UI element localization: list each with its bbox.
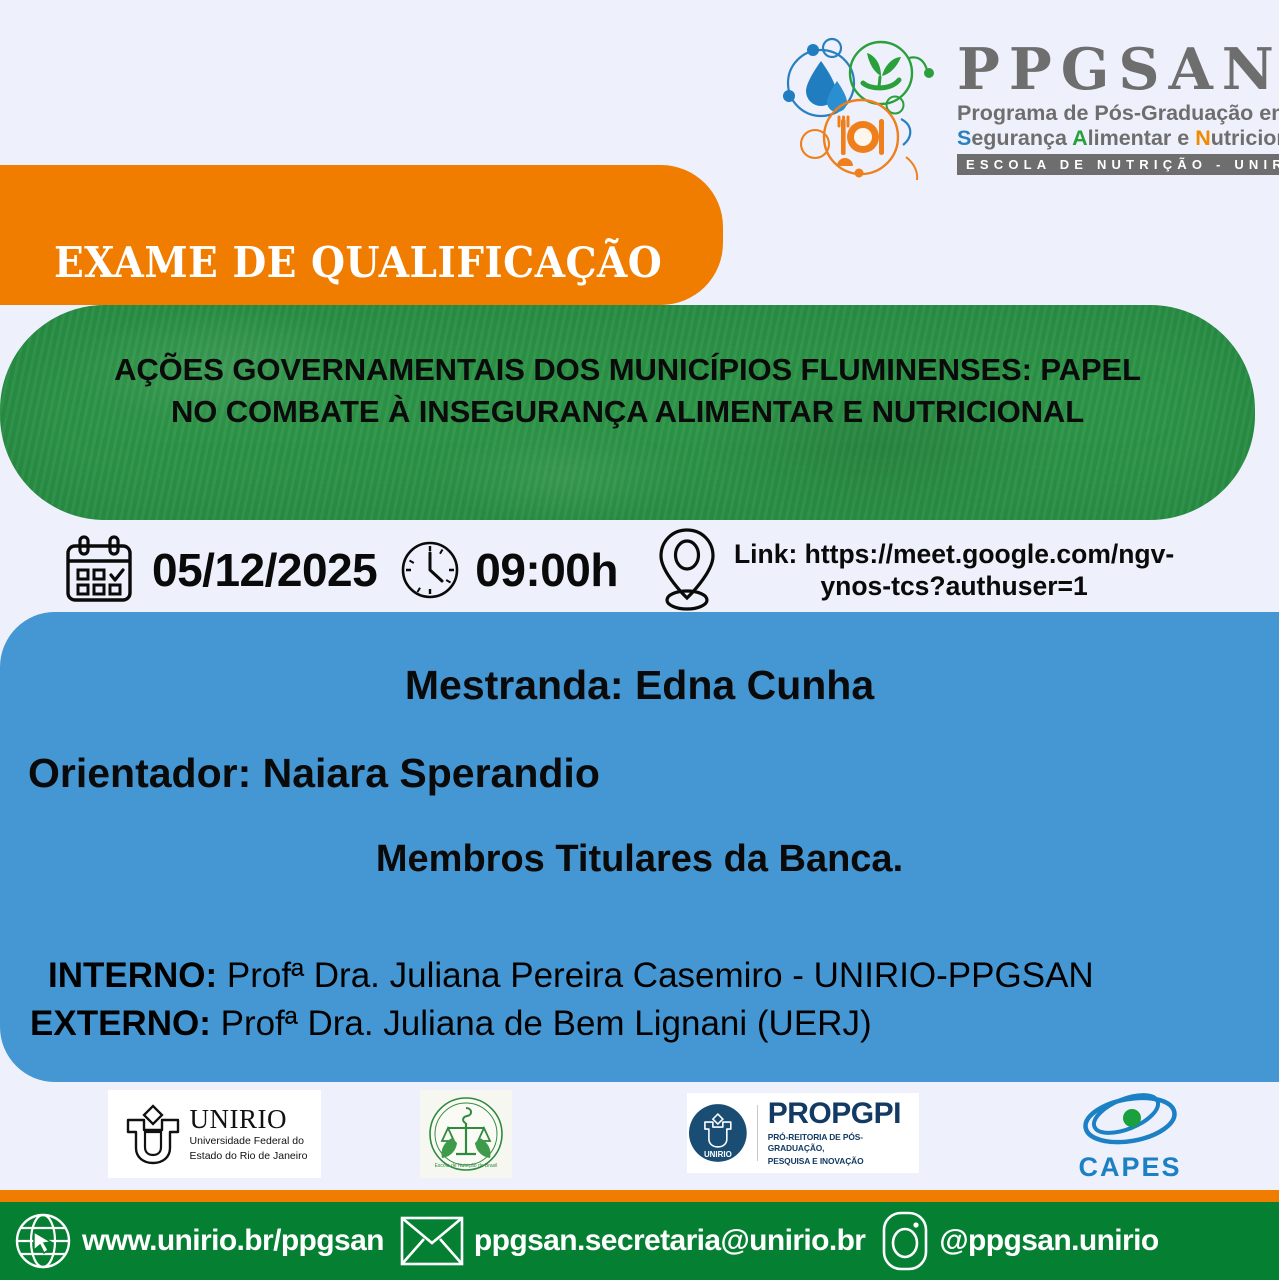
committee-external-value: Profª Dra. Juliana de Bem Lignani (UERJ) — [221, 1004, 872, 1043]
globe-icon — [14, 1212, 72, 1270]
ppgsan-subtitle-line2: Segurança Alimentar e Nutricional — [957, 126, 1279, 150]
calendar-icon — [64, 534, 134, 606]
location-pin-icon — [654, 526, 720, 614]
ppgsan-logo: PPGSAN Programa de Pós-Graduação em Segu… — [775, 28, 1265, 188]
ppgsan-emblem-icon — [775, 33, 943, 183]
committee-internal: INTERNO: Profª Dra. Juliana Pereira Case… — [48, 956, 1094, 996]
student-line: Mestranda: Edna Cunha — [0, 662, 1279, 709]
sponsor-escola-caption: Escola de Nutrição do Brasil — [435, 1163, 498, 1169]
sponsor-logo-propgpi: UNIRIO PROPGPI PRÓ-REITORIA DE PÓS-GRADU… — [687, 1093, 919, 1173]
event-link-group[interactable]: Link: https://meet.google.com/ngv- ynos-… — [654, 526, 1174, 614]
thesis-title-banner: AÇÕES GOVERNAMENTAIS DOS MUNICÍPIOS FLUM… — [0, 305, 1255, 520]
footer-bar: www.unirio.br/ppgsan ppgsan.secretaria@u… — [0, 1202, 1279, 1280]
clock-icon — [399, 539, 461, 601]
poster-root: PPGSAN Programa de Pós-Graduação em Segu… — [0, 0, 1279, 1280]
unirio-crest-icon — [122, 1101, 184, 1167]
thesis-title-line2: NO COMBATE À INSEGURANÇA ALIMENTAR E NUT… — [30, 391, 1225, 433]
committee-external: EXTERNO: Profª Dra. Juliana de Bem Ligna… — [30, 1004, 872, 1044]
event-time-group: 09:00h — [399, 539, 618, 601]
committee-internal-label: INTERNO: — [48, 956, 217, 995]
footer-divider — [0, 1190, 1279, 1202]
envelope-icon — [400, 1215, 464, 1267]
propgpi-divider — [757, 1105, 758, 1161]
ppgsan-logo-mark — [775, 33, 943, 183]
committee-heading: Membros Titulares da Banca. — [0, 838, 1279, 881]
exam-type-banner: EXAME DE QUALIFICAÇÃO — [0, 165, 723, 305]
event-link[interactable]: Link: https://meet.google.com/ngv- ynos-… — [734, 538, 1174, 603]
sponsor-unirio-sub1: Universidade Federal do — [190, 1135, 308, 1148]
ppgsan-logo-text: PPGSAN Programa de Pós-Graduação em Segu… — [957, 41, 1279, 174]
instagram-icon — [881, 1210, 929, 1272]
ppgsan-acronym: PPGSAN — [957, 43, 1279, 97]
propgpi-unirio-badge-icon: UNIRIO — [687, 1102, 749, 1164]
ppgsan-subtitle-line1: Programa de Pós-Graduação em — [957, 101, 1279, 125]
event-date-group: 05/12/2025 — [64, 534, 377, 606]
exam-type-label: EXAME DE QUALIFICAÇÃO — [0, 238, 662, 305]
sponsor-logo-capes: CAPES — [1055, 1088, 1205, 1183]
details-panel: Mestranda: Edna Cunha Orientador: Naiara… — [0, 612, 1279, 1082]
sponsor-propgpi-title: PROPGPI — [768, 1099, 919, 1129]
ppgsan-school-bar: ESCOLA DE NUTRIÇÃO - UNIRIO — [957, 154, 1279, 175]
sponsor-propgpi-sub2: PESQUISA E INOVAÇÃO — [768, 1156, 919, 1167]
event-info-strip: 05/12/2025 09:00h Link: https://meet.goo… — [0, 520, 1279, 620]
committee-external-label: EXTERNO: — [30, 1004, 211, 1043]
footer-email[interactable]: ppgsan.secretaria@unirio.br — [474, 1224, 866, 1258]
sponsor-logo-unirio: UNIRIO Universidade Federal do Estado do… — [108, 1090, 321, 1178]
thesis-title-line1: AÇÕES GOVERNAMENTAIS DOS MUNICÍPIOS FLUM… — [30, 349, 1225, 391]
committee-internal-value: Profª Dra. Juliana Pereira Casemiro - UN… — [227, 956, 1094, 995]
footer-website[interactable]: www.unirio.br/ppgsan — [82, 1224, 384, 1258]
event-link-line2: ynos-tcs?authuser=1 — [820, 571, 1087, 601]
escola-nutricao-seal-icon: Escola de Nutrição do Brasil — [426, 1094, 506, 1174]
propgpi-badge-text: UNIRIO — [704, 1150, 732, 1159]
thesis-title: AÇÕES GOVERNAMENTAIS DOS MUNICÍPIOS FLUM… — [0, 305, 1255, 433]
sponsor-unirio-sub2: Estado do Rio de Janeiro — [190, 1150, 308, 1163]
footer-instagram[interactable]: @ppgsan.unirio — [939, 1224, 1158, 1258]
capes-orbit-icon — [1068, 1088, 1192, 1150]
sponsor-logo-escola-nutricao: Escola de Nutrição do Brasil — [420, 1090, 512, 1178]
sponsor-unirio-title: UNIRIO — [190, 1106, 308, 1133]
event-time: 09:00h — [475, 543, 618, 597]
sponsor-propgpi-sub1: PRÓ-REITORIA DE PÓS-GRADUAÇÃO, — [768, 1132, 919, 1153]
event-date: 05/12/2025 — [152, 543, 377, 597]
event-link-line1: Link: https://meet.google.com/ngv- — [734, 539, 1174, 569]
advisor-line: Orientador: Naiara Sperandio — [28, 750, 600, 797]
sponsor-capes-title: CAPES — [1078, 1152, 1181, 1183]
